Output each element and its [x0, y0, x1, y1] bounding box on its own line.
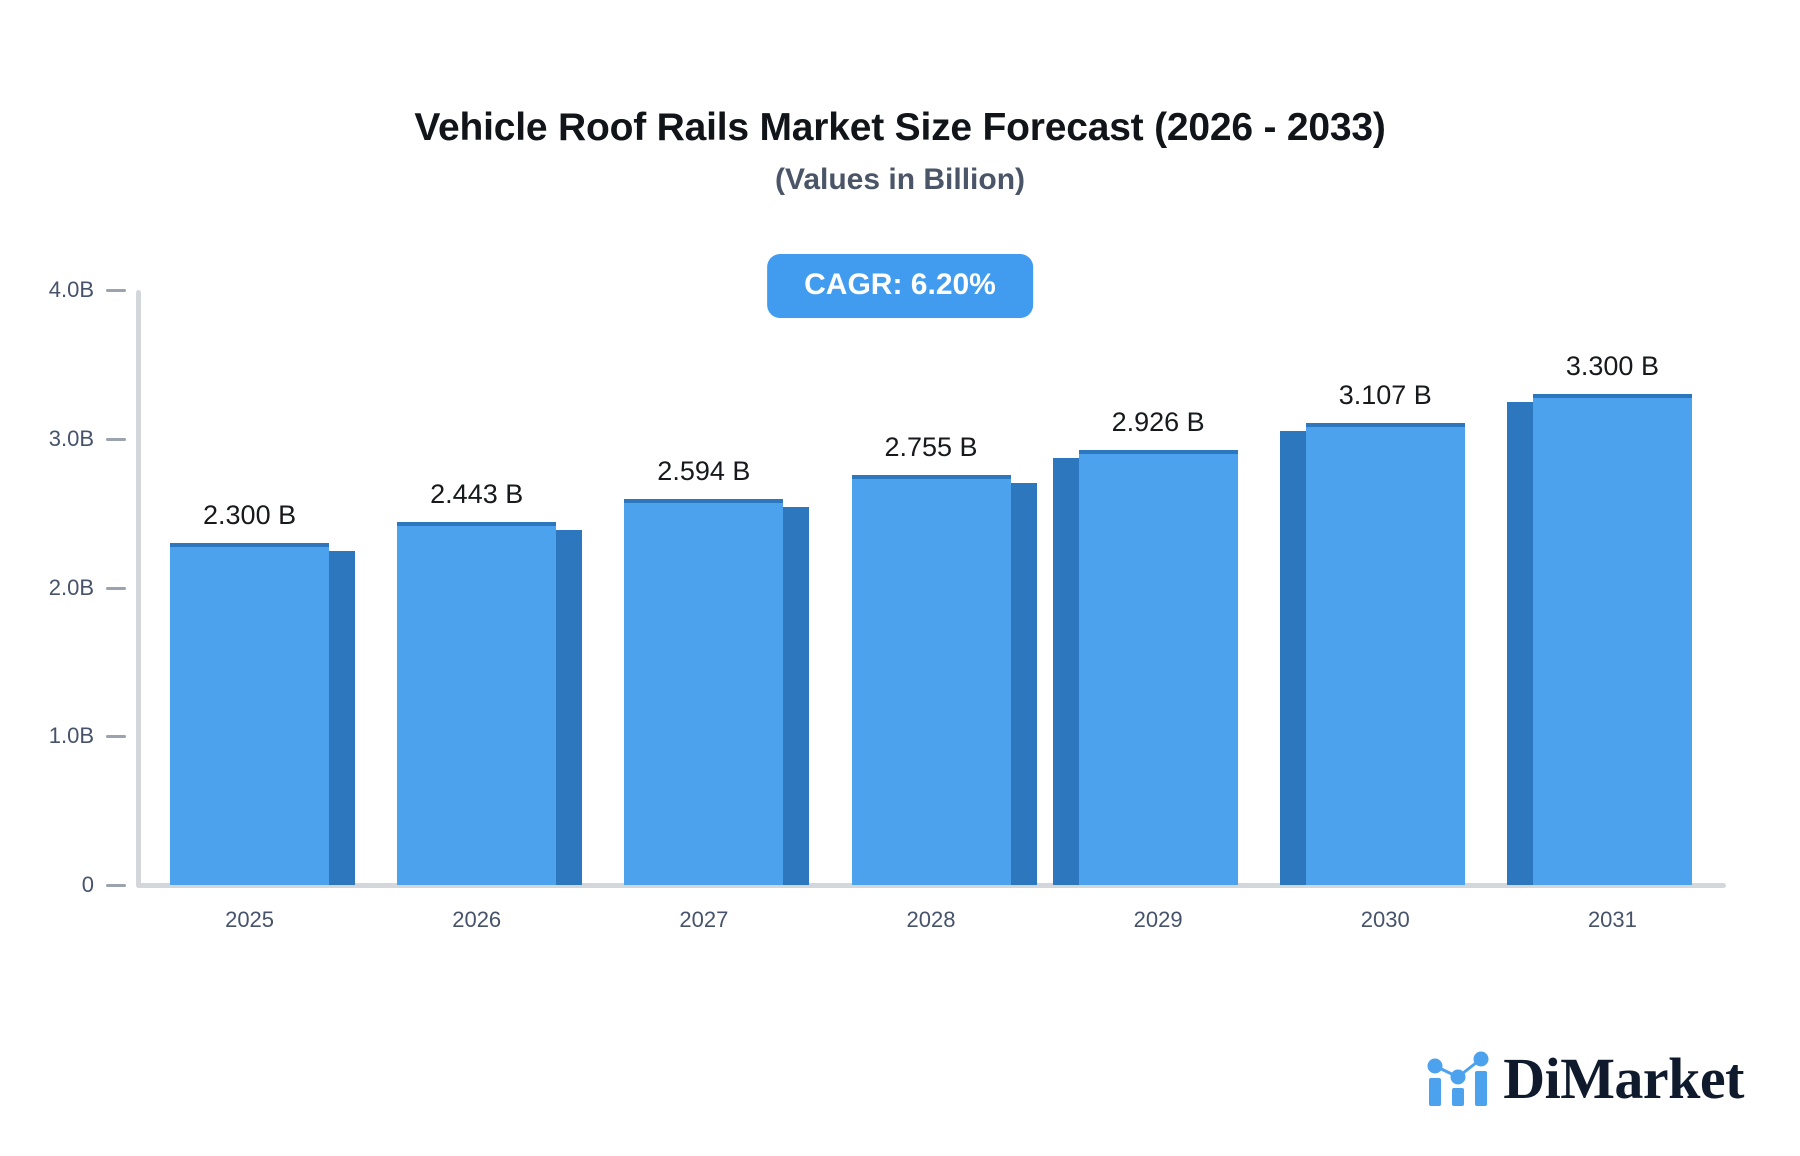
y-axis-tick-label: 2.0B [49, 578, 94, 598]
bar-side-face [1053, 458, 1079, 885]
bar-front-face [1533, 394, 1692, 885]
bar: 2.300 B [170, 543, 329, 885]
y-axis-tick-label: 1.0B [49, 726, 94, 746]
dimarket-logo: DiMarket [1427, 1048, 1744, 1110]
x-axis-label: 2031 [1452, 907, 1772, 933]
y-axis-tick-label: 4.0B [49, 280, 94, 300]
bar: 2.443 B [397, 522, 556, 885]
y-axis-tick: 2.0B [0, 578, 136, 598]
chart-container: Vehicle Roof Rails Market Size Forecast … [0, 0, 1800, 1156]
plot-area: 2.300 B2.443 B2.594 B2.755 B2.926 B3.107… [136, 290, 1726, 885]
bar-front-face [397, 522, 556, 885]
bar-top-edge [624, 499, 783, 503]
bar-top-edge [397, 522, 556, 526]
bar-side-face [783, 507, 809, 885]
y-axis-tick: 3.0B [0, 429, 136, 449]
bar-front-face [170, 543, 329, 885]
y-axis-tick-label: 3.0B [49, 429, 94, 449]
bar: 3.300 B [1533, 394, 1692, 885]
bar-top-edge [1306, 423, 1465, 427]
bar-front-face [1079, 450, 1238, 885]
bar-front-face [852, 475, 1011, 885]
bar-top-edge [1079, 450, 1238, 454]
bar-side-face [556, 530, 582, 885]
bar: 2.594 B [624, 499, 783, 885]
chart-subtitle: (Values in Billion) [0, 161, 1800, 199]
bar-side-face [1280, 431, 1306, 885]
logo-text: DiMarket [1503, 1048, 1744, 1110]
bar-top-edge [1533, 394, 1692, 398]
bar-value-label: 3.107 B [1225, 379, 1545, 411]
title-block: Vehicle Roof Rails Market Size Forecast … [0, 104, 1800, 199]
y-axis-tick-mark [106, 587, 126, 590]
y-axis-tick-mark [106, 735, 126, 738]
y-axis-tick-label: 0 [82, 875, 94, 895]
bar-side-face [1011, 483, 1037, 885]
bar-top-edge [852, 475, 1011, 479]
y-axis-tick-mark [106, 884, 126, 887]
bar-value-label: 3.300 B [1452, 350, 1772, 382]
y-axis-tick: 4.0B [0, 280, 136, 300]
bar-chart-icon [1427, 1050, 1489, 1108]
y-axis-tick-mark [106, 289, 126, 292]
bar-side-face [1507, 402, 1533, 885]
y-axis-tick: 1.0B [0, 726, 136, 746]
bar-front-face [624, 499, 783, 885]
bar: 2.755 B [852, 475, 1011, 885]
bar: 2.926 B [1079, 450, 1238, 885]
bar-top-edge [170, 543, 329, 547]
y-axis-tick-mark [106, 438, 126, 441]
bar-side-face [329, 551, 355, 885]
bar: 3.107 B [1306, 423, 1465, 885]
bar-front-face [1306, 423, 1465, 885]
chart-title: Vehicle Roof Rails Market Size Forecast … [0, 104, 1800, 152]
y-axis-tick: 0 [0, 875, 136, 895]
